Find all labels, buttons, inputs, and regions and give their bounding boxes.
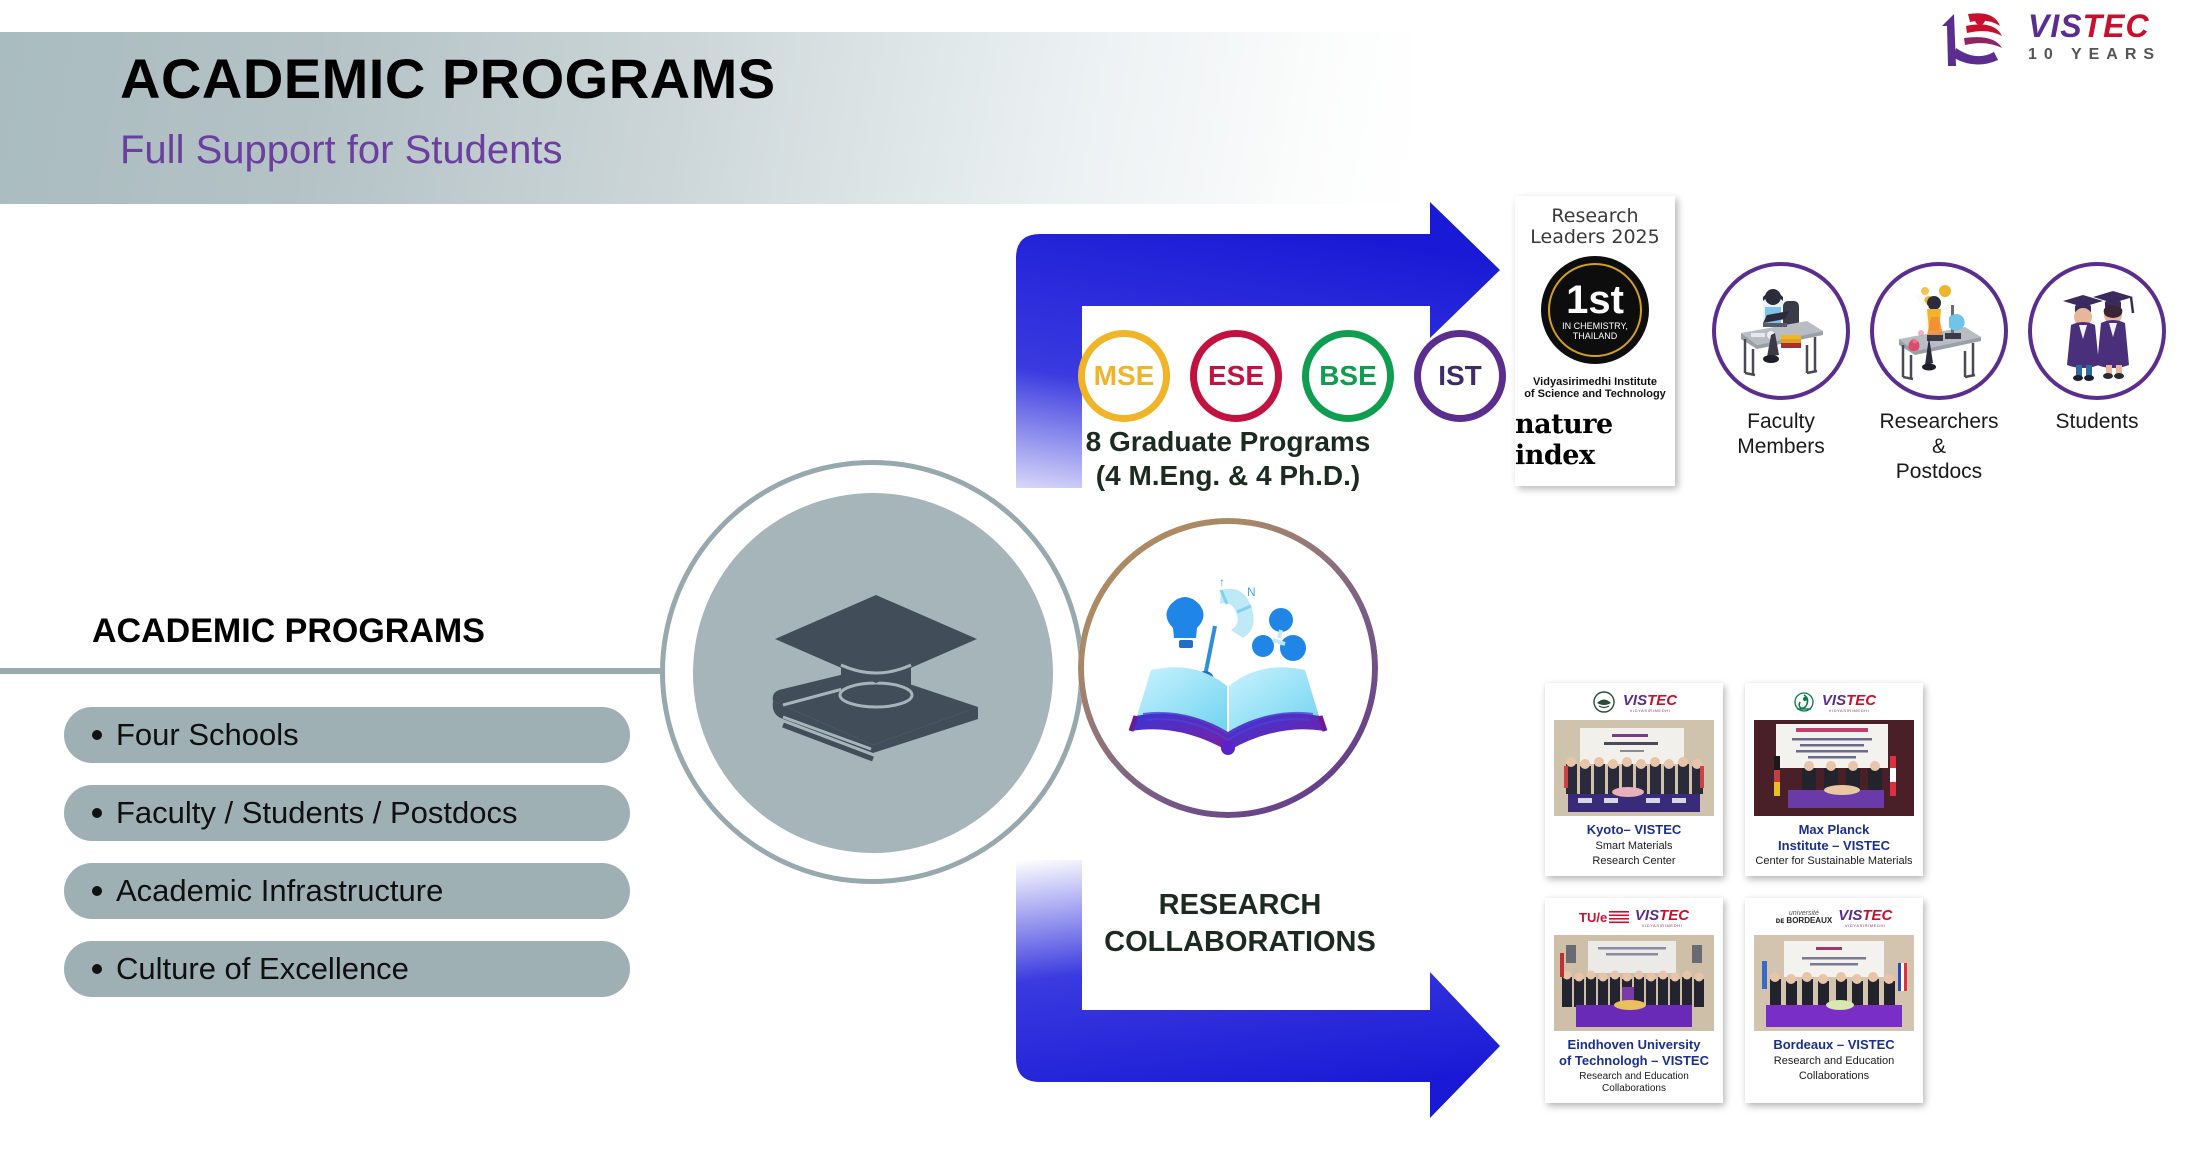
person-students[interactable]: Students <box>2028 262 2166 484</box>
kyoto-university-logo-icon <box>1591 691 1617 715</box>
nature-index-brand: nature index <box>1515 409 1675 471</box>
person-label-line1: Faculty <box>1712 410 1850 435</box>
card-title-line2: Institute – VISTEC <box>1778 838 1890 854</box>
card-title-line2: of Technologh – VISTEC <box>1559 1053 1709 1069</box>
signing-ceremony-photo <box>1554 935 1714 1031</box>
person-label: Students <box>2028 410 2166 435</box>
person-label-line2: Postdocs <box>1870 460 2008 485</box>
signing-ceremony-photo <box>1754 720 1914 816</box>
slide-root: ACADEMIC PROGRAMS Full Support for Stude… <box>0 0 2200 1153</box>
school-code-label: ESE <box>1208 360 1264 392</box>
card-title: Eindhoven University of Technologh – VIS… <box>1559 1037 1709 1068</box>
collaboration-card-kyoto[interactable]: VISTEC VIDYASIRIMEDHI <box>1545 683 1723 876</box>
research-collaborations-label: RESEARCH COLLABORATIONS <box>1080 887 1400 961</box>
svg-text:TU/e: TU/e <box>1579 910 1607 925</box>
nature-index-heading-line1: Research <box>1530 206 1659 227</box>
nature-index-heading: Research Leaders 2025 <box>1530 206 1659 247</box>
collaboration-card-eindhoven[interactable]: TU/e VISTEC VIDYASIRIMEDHI <box>1545 898 1723 1102</box>
card-logos: université ᴅᴇ BORDEAUX VISTEC VIDYASIRIM… <box>1776 906 1893 930</box>
school-code-label: IST <box>1438 360 1482 392</box>
list-item[interactable]: Faculty / Students / Postdocs <box>64 785 630 841</box>
open-book-science-ideas-icon: ↑ N <box>1113 568 1343 768</box>
school-circle-ese[interactable]: ESE <box>1190 330 1282 422</box>
nature-index-heading-line2: Leaders 2025 <box>1530 227 1659 248</box>
vistec-anniversary-mark-icon <box>1932 8 2024 70</box>
card-logos: VISTEC VIDYASIRIMEDHI <box>1591 691 1677 715</box>
list-item-label: Academic Infrastructure <box>116 873 443 909</box>
card-photo <box>1754 720 1914 816</box>
collaboration-cards-grid: VISTEC VIDYASIRIMEDHI <box>1545 683 1945 1125</box>
person-label: Researchers & Postdocs <box>1870 410 2008 484</box>
card-subtitle-line1: Center for Sustainable Materials <box>1755 855 1912 868</box>
card-photo <box>1754 935 1914 1031</box>
logo-years-text: 10 YEARS <box>2028 47 2161 63</box>
graduate-programs-caption: 8 Graduate Programs (4 M.Eng. & 4 Ph.D.) <box>1078 425 1378 493</box>
nature-index-rank-sub-line1: IN CHEMISTRY, <box>1562 321 1628 332</box>
collaboration-cards-row-top: VISTEC VIDYASIRIMEDHI <box>1545 683 1945 876</box>
faculty-desk-icon <box>1727 277 1835 385</box>
school-circles-row: MSE ESE BSE IST <box>1078 330 1506 422</box>
nature-index-badge: Research Leaders 2025 1st IN CHEMISTRY, … <box>1515 196 1675 486</box>
card-title-line1: Max Planck <box>1778 822 1890 838</box>
school-code-label: BSE <box>1319 360 1377 392</box>
people-circles-row: Faculty Members <box>1712 262 2166 484</box>
card-photo <box>1554 720 1714 816</box>
collaboration-cards-row-bottom: TU/e VISTEC VIDYASIRIMEDHI <box>1545 898 1945 1102</box>
academic-programs-hub-inner <box>693 493 1053 853</box>
list-item[interactable]: Culture of Excellence <box>64 941 630 997</box>
signing-ceremony-photo <box>1554 720 1714 816</box>
card-subtitle-line2: Collaborations <box>1799 1070 1869 1083</box>
graduation-cap-on-book-icon <box>753 573 993 773</box>
person-faculty-members[interactable]: Faculty Members <box>1712 262 1850 484</box>
card-subtitle-line1: Research and Education Collaborations <box>1551 1071 1717 1095</box>
svg-text:N: N <box>1247 585 1256 599</box>
universite-de-bordeaux-logo-icon: université ᴅᴇ BORDEAUX <box>1776 910 1833 926</box>
vistec-logo-text: VISTEC 10 YEARS <box>2028 10 2161 63</box>
card-title: Kyoto– VISTEC <box>1587 822 1682 838</box>
bullet-icon <box>92 730 102 740</box>
vistec-logo: VISTEC 10 YEARS <box>1932 6 2192 72</box>
nature-index-rank-sub: IN CHEMISTRY, THAILAND <box>1562 321 1628 343</box>
bullet-icon <box>92 808 102 818</box>
person-label-line1: Researchers & <box>1870 410 2008 460</box>
research-collaborations-line1: RESEARCH <box>1080 887 1400 924</box>
list-item-label: Culture of Excellence <box>116 951 409 987</box>
school-code-label: MSE <box>1094 360 1155 392</box>
academic-programs-list: Four Schools Faculty / Students / Postdo… <box>64 707 630 1019</box>
school-circle-ist[interactable]: IST <box>1414 330 1506 422</box>
card-logos: TU/e VISTEC VIDYASIRIMEDHI <box>1579 906 1689 930</box>
graduate-programs-caption-line2: (4 M.Eng. & 4 Ph.D.) <box>1078 459 1378 493</box>
research-hub-circle: ↑ N <box>1078 518 1378 818</box>
left-section-heading: ACADEMIC PROGRAMS <box>92 612 485 651</box>
nature-index-rank: 1st <box>1566 282 1624 319</box>
collaboration-card-max-planck[interactable]: VISTEC VIDYASIRIMEDHI <box>1745 683 1923 876</box>
academic-programs-hub-circle <box>660 460 1084 884</box>
card-vistec-logo: VISTEC VIDYASIRIMEDHI <box>1838 908 1892 928</box>
bullet-icon <box>92 886 102 896</box>
nature-index-rank-sub-line2: THAILAND <box>1562 331 1628 342</box>
card-vistec-logo: VISTEC VIDYASIRIMEDHI <box>1635 908 1689 928</box>
research-collaborations-line2: COLLABORATIONS <box>1080 924 1400 961</box>
list-item[interactable]: Academic Infrastructure <box>64 863 630 919</box>
card-subtitle-line1: Smart Materials <box>1595 840 1672 853</box>
svg-text:↑: ↑ <box>1219 575 1225 589</box>
card-title: Max Planck Institute – VISTEC <box>1778 822 1890 853</box>
person-circle <box>1870 262 2008 400</box>
tue-eindhoven-logo-icon: TU/e <box>1579 907 1629 929</box>
nature-index-institute-line2: of Science and Technology <box>1524 388 1666 400</box>
card-title: Bordeaux – VISTEC <box>1773 1037 1894 1053</box>
card-subtitle-line1: Research and Education <box>1774 1055 1894 1068</box>
card-vistec-logo: VISTEC VIDYASIRIMEDHI <box>1623 693 1677 713</box>
card-logos: VISTEC VIDYASIRIMEDHI <box>1792 691 1876 715</box>
person-researchers-postdocs[interactable]: Researchers & Postdocs <box>1870 262 2008 484</box>
nature-index-rank-disc: 1st IN CHEMISTRY, THAILAND <box>1541 256 1649 364</box>
nature-index-institute-line1: Vidyasirimedhi Institute <box>1524 376 1666 388</box>
person-circle <box>1712 262 1850 400</box>
card-subtitle-line2: Research Center <box>1592 855 1675 868</box>
max-planck-society-logo-icon <box>1792 691 1816 715</box>
person-label-line2: Members <box>1712 435 1850 460</box>
page-subtitle: Full Support for Students <box>120 128 562 173</box>
researcher-lab-icon <box>1885 277 1993 385</box>
logo-vis-text: VIS <box>2028 8 2083 44</box>
graduates-icon <box>2043 277 2151 385</box>
list-item-label: Four Schools <box>116 717 299 753</box>
logo-tec-text: TEC <box>2083 8 2150 44</box>
signing-ceremony-photo <box>1754 935 1914 1031</box>
card-vistec-logo: VISTEC VIDYASIRIMEDHI <box>1822 693 1876 713</box>
left-section-divider <box>0 668 672 674</box>
list-item[interactable]: Four Schools <box>64 707 630 763</box>
page-title: ACADEMIC PROGRAMS <box>120 46 776 111</box>
person-circle <box>2028 262 2166 400</box>
school-circle-mse[interactable]: MSE <box>1078 330 1170 422</box>
card-title-line1: Eindhoven University <box>1559 1037 1709 1053</box>
school-circle-bse[interactable]: BSE <box>1302 330 1394 422</box>
collaboration-card-bordeaux[interactable]: université ᴅᴇ BORDEAUX VISTEC VIDYASIRIM… <box>1745 898 1923 1102</box>
person-label-line1: Students <box>2028 410 2166 435</box>
bullet-icon <box>92 964 102 974</box>
graduate-programs-caption-line1: 8 Graduate Programs <box>1078 425 1378 459</box>
list-item-label: Faculty / Students / Postdocs <box>116 795 517 831</box>
nature-index-institute: Vidyasirimedhi Institute of Science and … <box>1520 376 1670 401</box>
card-photo <box>1554 935 1714 1031</box>
person-label: Faculty Members <box>1712 410 1850 460</box>
